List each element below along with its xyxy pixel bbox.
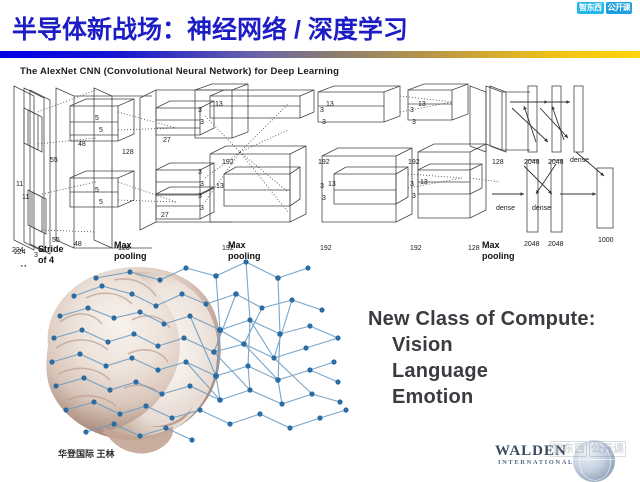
brand-logo-part2: 公开课 [606, 2, 633, 14]
svg-text:27: 27 [163, 137, 171, 144]
watermark-part1: 智东西 [550, 441, 587, 457]
svg-text:128: 128 [468, 245, 480, 252]
svg-text:dense: dense [532, 205, 551, 212]
svg-text:3: 3 [198, 193, 202, 200]
brand-logo-part1: 智东西 [577, 2, 604, 14]
slide-header: 半导体新战场：神经网络 / 深度学习 [0, 0, 640, 52]
svg-text:13: 13 [420, 179, 428, 186]
cnn-diagram-caption: The AlexNet CNN (Convolutional Neural Ne… [20, 66, 339, 77]
compute-heading: New Class of Compute: [368, 306, 596, 332]
svg-text:Max: Max [482, 240, 500, 250]
compute-callout: New Class of Compute: Vision Language Em… [368, 306, 596, 410]
svg-text:1000: 1000 [598, 237, 614, 244]
svg-text:11: 11 [22, 194, 29, 201]
svg-text:13: 13 [326, 101, 334, 108]
svg-text:5: 5 [95, 187, 99, 194]
svg-text:11: 11 [20, 265, 27, 267]
alexnet-architecture-diagram: 11 11 224 11 11 224 48 48 55 55 5 5 5 5 … [0, 82, 640, 267]
svg-text:3: 3 [410, 181, 414, 188]
svg-text:13: 13 [215, 101, 223, 108]
svg-text:5: 5 [95, 115, 99, 122]
svg-text:27: 27 [161, 212, 169, 219]
svg-text:dense: dense [496, 205, 515, 212]
svg-text:192: 192 [408, 159, 420, 166]
svg-text:Max: Max [228, 240, 246, 250]
svg-text:5: 5 [99, 199, 103, 206]
svg-text:3: 3 [198, 169, 202, 176]
svg-text:128: 128 [122, 149, 134, 156]
svg-text:13: 13 [328, 181, 336, 188]
brand-logo: 智东西 公开课 [577, 2, 632, 14]
svg-text:224: 224 [14, 249, 26, 256]
svg-text:3: 3 [320, 183, 324, 190]
svg-text:3: 3 [200, 181, 204, 188]
svg-text:Max: Max [114, 240, 132, 250]
brain-network-illustration [40, 250, 360, 470]
walden-logo-subtitle: INTERNATIONAL [498, 459, 574, 466]
svg-text:2048: 2048 [548, 159, 564, 166]
svg-text:3: 3 [322, 119, 326, 126]
compute-item-vision: Vision [368, 332, 596, 358]
page-title: 半导体新战场：神经网络 / 深度学习 [12, 10, 408, 46]
svg-text:3: 3 [412, 119, 416, 126]
svg-text:192: 192 [222, 159, 234, 166]
svg-text:55: 55 [52, 237, 60, 244]
svg-text:3: 3 [412, 193, 416, 200]
presenter-credit: 华登国际 王林 [58, 447, 115, 460]
svg-text:192: 192 [410, 245, 422, 252]
watermark-logo: 智东西 公开课 [550, 441, 626, 457]
svg-text:2048: 2048 [524, 241, 540, 248]
svg-text:pooling: pooling [482, 251, 515, 261]
svg-text:3: 3 [320, 107, 324, 114]
svg-text:55: 55 [50, 157, 58, 164]
svg-text:5: 5 [99, 127, 103, 134]
svg-text:3: 3 [200, 205, 204, 212]
svg-text:2048: 2048 [524, 159, 540, 166]
svg-text:11: 11 [16, 181, 23, 188]
svg-text:dense: dense [570, 157, 589, 164]
svg-text:3: 3 [322, 195, 326, 202]
svg-text:13: 13 [216, 183, 224, 190]
svg-text:2048: 2048 [548, 241, 564, 248]
svg-text:13: 13 [418, 101, 426, 108]
slide-canvas: 半导体新战场：神经网络 / 深度学习 智东西 公开课 The AlexNet C… [0, 0, 640, 479]
svg-text:3: 3 [410, 107, 414, 114]
compute-item-emotion: Emotion [368, 384, 596, 410]
watermark-part2: 公开课 [589, 441, 626, 457]
compute-item-language: Language [368, 358, 596, 384]
svg-text:192: 192 [318, 159, 330, 166]
svg-text:3: 3 [200, 119, 204, 126]
title-divider-bar [0, 51, 640, 58]
svg-text:3: 3 [198, 107, 202, 114]
svg-text:48: 48 [74, 241, 82, 248]
svg-text:128: 128 [492, 159, 504, 166]
svg-text:48: 48 [78, 141, 86, 148]
